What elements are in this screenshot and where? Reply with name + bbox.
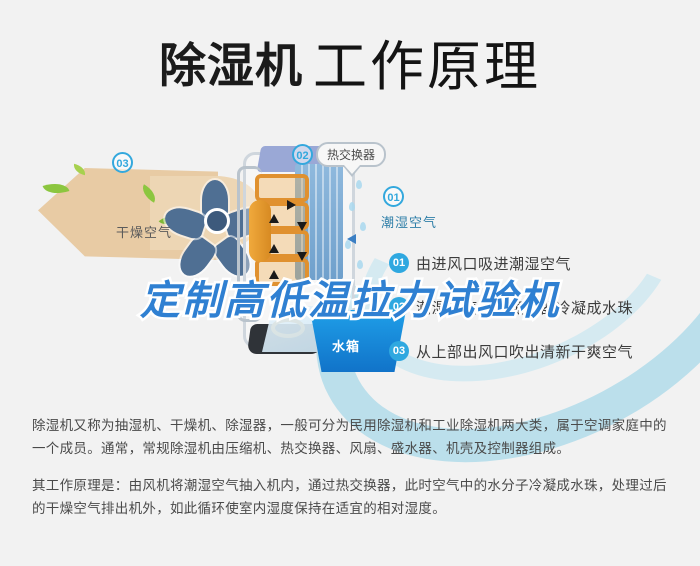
dry-air-label: 干燥空气 — [116, 222, 172, 241]
list-item: 02 潮湿空气经过蒸发器冷凝成水珠 — [389, 292, 679, 322]
marker-02: 02 — [292, 144, 313, 165]
heat-exchanger-callout: 热交换器 — [316, 142, 386, 167]
marker-01: 01 — [383, 186, 404, 207]
step-text: 由进风口吸进潮湿空气 — [416, 253, 571, 274]
humid-air-label: 潮湿空气 — [381, 212, 437, 231]
paragraph-2: 其工作原理是：由风机将潮湿空气抽入机内，通过热交换器，此时空气中的水分子冷凝成水… — [32, 474, 672, 520]
page-title: 除湿机工作原理 — [0, 22, 700, 101]
flow-arrow-up — [269, 214, 279, 223]
step-badge: 01 — [389, 253, 409, 273]
flow-arrow-up — [269, 270, 279, 279]
step-text: 从上部出风口吹出清新干爽空气 — [416, 341, 633, 362]
step-badge: 03 — [389, 341, 409, 361]
list-item: 03 从上部出风口吹出清新干爽空气 — [389, 336, 679, 366]
page-title-bold: 除湿机 — [159, 39, 303, 92]
description-text: 除湿机又称为抽湿机、干燥机、除湿器，一般可分为民用除湿机和工业除湿机两大类，属于… — [32, 414, 672, 520]
infographic-page: 除湿机工作原理 — [0, 0, 700, 566]
flow-arrow-down — [297, 222, 307, 231]
water-tank-label: 水箱 — [332, 336, 360, 355]
flow-arrow-right — [287, 200, 296, 210]
marker-03: 03 — [112, 152, 133, 173]
flow-arrow-down — [297, 252, 307, 261]
page-title-light: 工作原理 — [313, 37, 541, 97]
paragraph-1: 除湿机又称为抽湿机、干燥机、除湿器，一般可分为民用除湿机和工业除湿机两大类，属于… — [32, 414, 672, 460]
list-item: 01 由进风口吸进潮湿空气 — [389, 248, 679, 278]
refrigerant-pipe — [237, 166, 262, 322]
step-badge: 02 — [389, 297, 409, 317]
step-text: 潮湿空气经过蒸发器冷凝成水珠 — [416, 297, 633, 318]
step-list: 01 由进风口吸进潮湿空气 02 潮湿空气经过蒸发器冷凝成水珠 03 从上部出风… — [389, 248, 679, 380]
flow-arrow-up — [269, 244, 279, 253]
